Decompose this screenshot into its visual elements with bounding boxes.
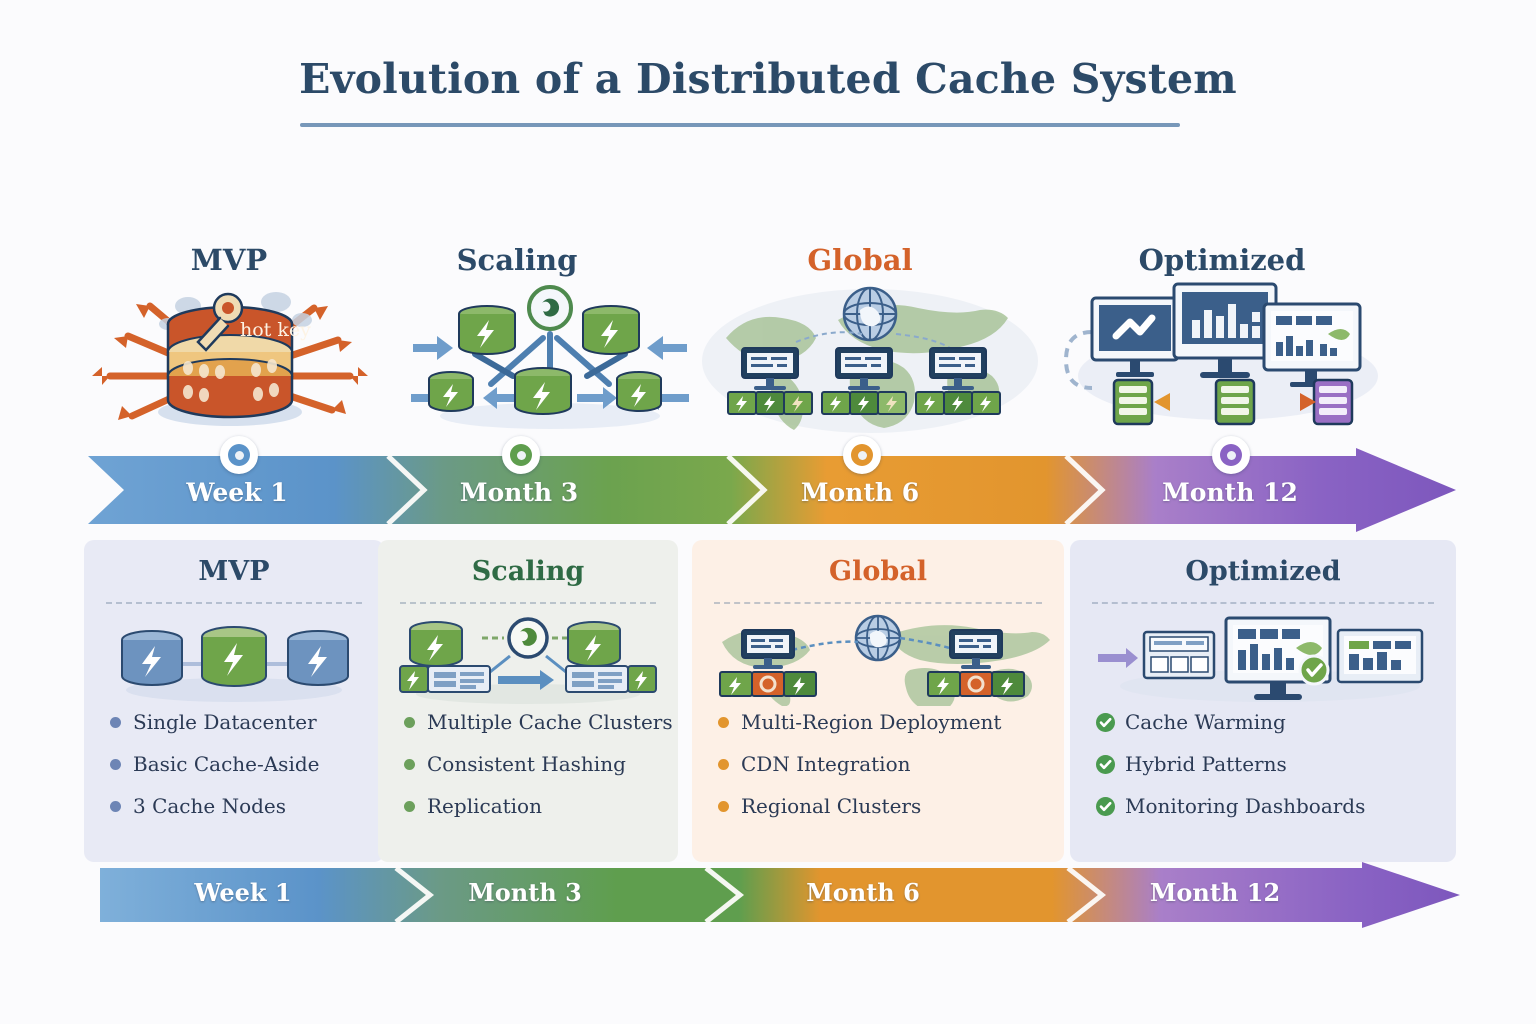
bullet-item: Multiple Cache Clusters — [404, 710, 664, 734]
bullet-label: Cache Warming — [1125, 710, 1286, 734]
bullet-item: Replication — [404, 794, 664, 818]
card-title-optimized: Optimized — [1070, 556, 1456, 587]
card-title-global: Global — [692, 556, 1064, 587]
illustration-three-cache-nodes — [84, 614, 384, 706]
bullet-item: Consistent Hashing — [404, 752, 664, 776]
stage-label-optimized: Optimized — [1097, 243, 1347, 277]
bullet-item: 3 Cache Nodes — [110, 794, 370, 818]
illustration-monitoring-dashboards — [1058, 276, 1388, 436]
bullet-item: Regional Clusters — [718, 794, 1050, 818]
illustration-dashboard-monitors — [1070, 614, 1456, 706]
bullet-label: Regional Clusters — [741, 794, 921, 818]
stage-cards: MVP — [84, 540, 1456, 870]
card-bullets-optimized: Cache Warming Hybrid Patterns Monitoring… — [1096, 710, 1442, 836]
card-mvp[interactable]: MVP — [84, 540, 384, 862]
bullet-label: Multi-Region Deployment — [741, 710, 1001, 734]
infographic-canvas: Evolution of a Distributed Cache System … — [0, 0, 1536, 1024]
bullet-dot-icon — [110, 759, 121, 770]
bullet-item: Cache Warming — [1096, 710, 1442, 734]
bullet-item: Basic Cache-Aside — [110, 752, 370, 776]
bullet-label: Hybrid Patterns — [1125, 752, 1287, 776]
bullet-label: Basic Cache-Aside — [133, 752, 319, 776]
card-divider — [714, 602, 1042, 604]
footer-label-month-3: Month 3 — [400, 878, 650, 907]
card-optimized[interactable]: Optimized — [1070, 540, 1456, 862]
check-circle-icon — [1096, 755, 1115, 774]
bullet-item: Single Datacenter — [110, 710, 370, 734]
illustration-cache-cluster-nodes — [405, 276, 695, 436]
bullet-dot-icon — [718, 717, 729, 728]
stage-label-global: Global — [735, 243, 985, 277]
card-title-mvp: MVP — [84, 556, 384, 587]
bullet-item: Multi-Region Deployment — [718, 710, 1050, 734]
card-bullets-global: Multi-Region Deployment CDN Integration … — [718, 710, 1050, 836]
bullet-label: Consistent Hashing — [427, 752, 626, 776]
check-circle-icon — [1096, 713, 1115, 732]
bullet-dot-icon — [404, 801, 415, 812]
card-bullets-scaling: Multiple Cache Clusters Consistent Hashi… — [404, 710, 664, 836]
bullet-label: Single Datacenter — [133, 710, 317, 734]
footer-label-month-12: Month 12 — [1090, 878, 1340, 907]
timeline-label-month-12: Month 12 — [1105, 478, 1355, 507]
bullet-dot-icon — [404, 759, 415, 770]
timeline-label-month-3: Month 3 — [394, 478, 644, 507]
bullet-item: Hybrid Patterns — [1096, 752, 1442, 776]
timeline-marker-month-3 — [502, 436, 540, 474]
card-divider — [106, 602, 362, 604]
timeline-marker-month-6 — [843, 436, 881, 474]
bullet-dot-icon — [110, 801, 121, 812]
card-title-scaling: Scaling — [378, 556, 678, 587]
bullet-label: Multiple Cache Clusters — [427, 710, 673, 734]
timeline-label-month-6: Month 6 — [735, 478, 985, 507]
card-global[interactable]: Global — [692, 540, 1064, 862]
bullet-dot-icon — [718, 759, 729, 770]
bullet-dot-icon — [718, 801, 729, 812]
timeline-marker-month-12 — [1212, 436, 1250, 474]
footer-label-week-1: Week 1 — [118, 878, 368, 907]
bullet-dot-icon — [404, 717, 415, 728]
card-bullets-mvp: Single Datacenter Basic Cache-Aside 3 Ca… — [110, 710, 370, 836]
bullet-label: 3 Cache Nodes — [133, 794, 286, 818]
card-divider — [1092, 602, 1434, 604]
bullet-item: Monitoring Dashboards — [1096, 794, 1442, 818]
illustration-world-map-cdn — [692, 614, 1064, 706]
timeline-label-week-1: Week 1 — [112, 478, 362, 507]
hot-key-caption: hot key — [240, 319, 311, 341]
footer-label-month-6: Month 6 — [738, 878, 988, 907]
illustration-hot-key-database: hot key — [80, 276, 380, 436]
card-divider — [400, 602, 656, 604]
illustration-world-map-regions — [700, 276, 1040, 436]
title-underline — [300, 123, 1180, 127]
bullet-label: Replication — [427, 794, 542, 818]
illustration-hashing-ring-clusters — [378, 614, 678, 706]
bullet-label: CDN Integration — [741, 752, 911, 776]
check-circle-icon — [1096, 797, 1115, 816]
bullet-item: CDN Integration — [718, 752, 1050, 776]
bullet-dot-icon — [110, 717, 121, 728]
page-title: Evolution of a Distributed Cache System — [0, 55, 1536, 103]
bullet-label: Monitoring Dashboards — [1125, 794, 1365, 818]
stage-label-mvp: MVP — [104, 243, 354, 277]
card-scaling[interactable]: Scaling — [378, 540, 678, 862]
timeline-marker-week-1 — [220, 436, 258, 474]
stage-label-scaling: Scaling — [392, 243, 642, 277]
